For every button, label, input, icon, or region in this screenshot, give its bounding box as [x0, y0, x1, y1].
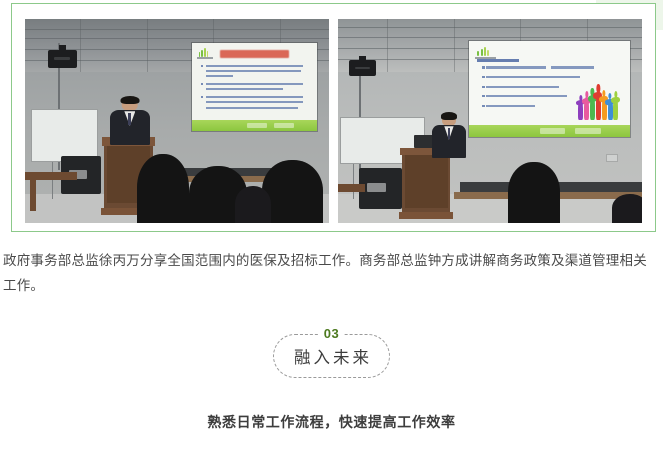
gallery-caption: 政府事务部总监徐丙万分享全国范围内的医保及招标工作。商务部总监钟方成讲解商务政策…	[3, 248, 660, 298]
slide-footer-left	[192, 120, 317, 131]
audience-head	[612, 194, 642, 223]
slide-footer-right	[469, 125, 630, 137]
section-badge-title: 融入未来	[291, 344, 372, 368]
projector-screen-right	[469, 41, 630, 137]
equipment-case	[359, 168, 402, 209]
section-badge: 03 融入未来	[273, 334, 390, 378]
wall-speaker-icon	[48, 50, 77, 68]
people-graphic-icon	[578, 87, 623, 120]
wall-outlet	[606, 154, 618, 162]
photo-gallery-inner	[25, 19, 642, 223]
photo-gallery-frame	[11, 3, 656, 232]
projector-screen-left	[192, 43, 317, 131]
side-desk	[25, 172, 77, 180]
slide-heading-right	[477, 59, 519, 62]
presenter-right	[432, 113, 465, 158]
section-badge-wrapper: 03 融入未来	[0, 334, 663, 378]
slide-logo-icon	[197, 47, 213, 59]
presenter-left	[110, 97, 150, 146]
slide-title-left	[220, 50, 290, 57]
side-desk	[338, 184, 365, 192]
slide-logo-icon	[475, 45, 496, 58]
podium-right	[402, 148, 451, 219]
audience-head	[137, 154, 189, 223]
section-headline: 熟悉日常工作流程，快速提高工作效率	[0, 412, 663, 432]
wall-speaker-icon	[349, 60, 376, 76]
side-desk-leg	[30, 180, 36, 211]
audience-head	[235, 186, 271, 223]
gallery-photo-right[interactable]	[338, 19, 642, 223]
section-badge-number: 03	[319, 326, 344, 342]
audience-head	[508, 162, 560, 223]
gallery-photo-left[interactable]	[25, 19, 329, 223]
whiteboard	[31, 109, 98, 162]
audience-head	[262, 160, 323, 223]
